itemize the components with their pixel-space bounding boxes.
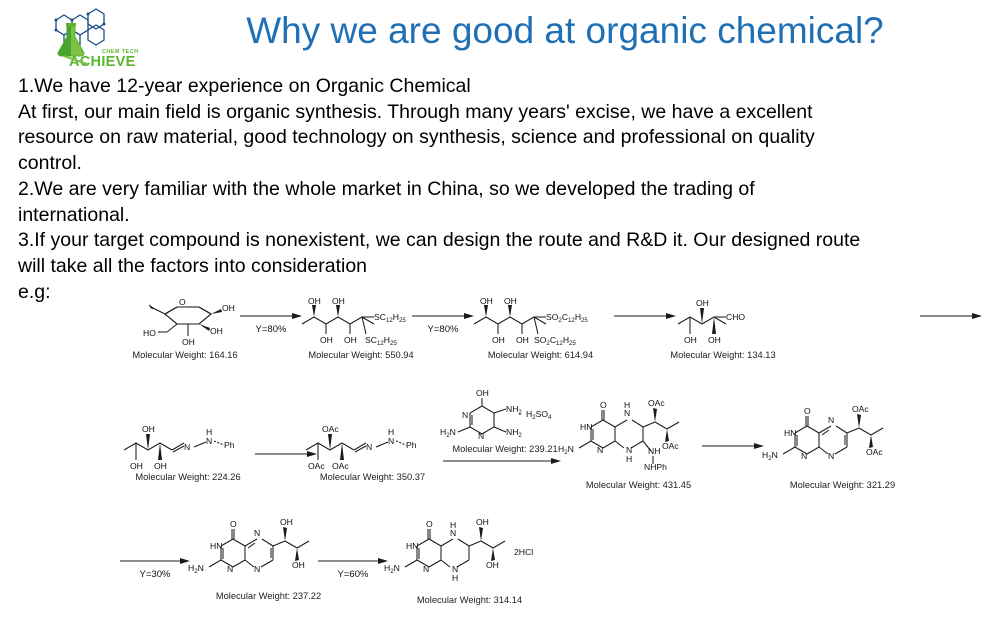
svg-text:NH2: NH2	[506, 427, 522, 439]
svg-text:OH: OH	[332, 296, 345, 306]
svg-text:OH: OH	[696, 298, 709, 308]
svg-text:H: H	[626, 454, 632, 464]
svg-text:OH: OH	[222, 303, 235, 313]
svg-text:OH: OH	[504, 296, 517, 306]
svg-text:Ph: Ph	[224, 440, 235, 450]
svg-text:H: H	[450, 520, 456, 530]
svg-text:H2N: H2N	[384, 563, 400, 575]
svg-text:OH: OH	[344, 335, 357, 345]
arrow-9: Y=60%	[318, 557, 388, 567]
svg-text:N: N	[828, 415, 834, 425]
body-line-7: 3.If your target compound is nonexistent…	[18, 228, 990, 254]
svg-text:OH: OH	[142, 424, 155, 434]
svg-text:OH: OH	[708, 335, 721, 345]
body-line-2: At first, our main field is organic synt…	[18, 100, 990, 126]
svg-text:OAc: OAc	[332, 461, 349, 471]
body-line-6: international.	[18, 203, 990, 229]
salt-label: 2HCl	[514, 547, 533, 557]
structure-disulfone: OH OH OH OH SO2C12H25 SO2C12H25 Molecula…	[468, 292, 613, 360]
body-text-block: 1.We have 12-year experience on Organic …	[18, 74, 990, 305]
svg-text:CHO: CHO	[726, 312, 745, 322]
svg-text:N: N	[801, 451, 807, 461]
svg-text:O: O	[804, 406, 811, 416]
slide-header: CHEM TECH ACHIEVE Why we are good at org…	[0, 0, 1000, 72]
structure-deoxyaldose: OH OH OH CHO Molecular Weight: 134.13	[668, 292, 778, 360]
svg-text:SO2C12H25: SO2C12H25	[546, 312, 588, 324]
svg-text:OH: OH	[292, 560, 305, 570]
scheme-row-1: O OH HO OH OH Molecular Weight: 164.16	[0, 290, 1000, 382]
svg-text:N: N	[462, 410, 468, 420]
svg-text:OH: OH	[320, 335, 333, 345]
arrow-1: Y=80%	[240, 312, 302, 322]
arrow-8-yield: Y=30%	[120, 569, 190, 580]
hexagon-lattice-icon	[55, 9, 106, 50]
svg-text:OH: OH	[516, 335, 529, 345]
svg-text:NH: NH	[648, 446, 660, 456]
svg-text:OH: OH	[684, 335, 697, 345]
body-line-3: resource on raw material, good technolog…	[18, 125, 990, 151]
svg-text:H2N: H2N	[440, 427, 456, 439]
svg-text:OAc: OAc	[308, 461, 325, 471]
svg-text:OH: OH	[280, 517, 293, 527]
svg-text:OH: OH	[154, 461, 167, 471]
body-line-8: will take all the factors into considera…	[18, 254, 990, 280]
svg-text:OH: OH	[476, 517, 489, 527]
mw-label: Molecular Weight: 237.22	[186, 591, 351, 601]
svg-text:HO: HO	[143, 328, 156, 338]
svg-text:OH: OH	[308, 296, 321, 306]
svg-text:OAc: OAc	[662, 441, 679, 451]
arrow-6	[443, 457, 561, 467]
svg-text:OH: OH	[210, 326, 223, 336]
svg-text:OAc: OAc	[852, 404, 869, 414]
arrow-2-yield: Y=80%	[412, 324, 474, 335]
svg-text:H2N: H2N	[762, 450, 778, 462]
svg-text:H: H	[452, 573, 458, 583]
svg-text:OAc: OAc	[648, 398, 665, 408]
body-line-1: 1.We have 12-year experience on Organic …	[18, 74, 990, 100]
structure-triacetate-hydrazone: OAc OAc OAc N N H Ph Molecular Weight: 3…	[300, 412, 445, 482]
svg-text:OH: OH	[476, 388, 489, 398]
svg-text:N: N	[478, 431, 484, 441]
mw-label: Molecular Weight: 164.16	[125, 350, 245, 360]
structure-pyrimidine-sulfate: OH N N NH2 NH2 H2N H2SO4 Molecular Weigh…	[440, 388, 570, 454]
structure-dithioacetal: OH OH OH OH SC12H25 SC12H25 Molecular We…	[296, 292, 426, 360]
scheme-row-3: Y=30% O HN N H2N N	[0, 515, 1000, 613]
svg-text:H2SO4: H2SO4	[526, 409, 552, 421]
svg-text:OAc: OAc	[322, 424, 339, 434]
svg-text:N: N	[254, 564, 260, 574]
svg-text:N: N	[206, 436, 212, 446]
svg-text:O: O	[600, 400, 607, 410]
svg-text:O: O	[230, 519, 237, 529]
svg-text:N: N	[254, 528, 260, 538]
body-line-4: control.	[18, 151, 990, 177]
mw-label: Molecular Weight: 314.14	[382, 595, 557, 605]
svg-text:N: N	[597, 445, 603, 455]
svg-text:Ph: Ph	[406, 440, 417, 450]
svg-text:H2N: H2N	[188, 563, 204, 575]
svg-text:OAc: OAc	[866, 447, 883, 457]
mw-label: Molecular Weight: 431.45	[556, 480, 721, 490]
svg-text:N: N	[828, 451, 834, 461]
mw-label: Molecular Weight: 350.37	[300, 472, 445, 482]
structure-pteridine-diacetate: O HN N H2N N N	[760, 402, 925, 490]
svg-text:N: N	[184, 442, 190, 452]
svg-text:OH: OH	[480, 296, 493, 306]
reagent-mw-label: Molecular Weight: 239.21	[440, 444, 570, 454]
structure-sapropterin-dihydrochloride: O HN N H2N N H N	[382, 515, 557, 605]
mw-label: Molecular Weight: 134.13	[668, 350, 778, 360]
svg-text:N: N	[366, 442, 372, 452]
body-line-5: 2.We are very familiar with the whole ma…	[18, 177, 990, 203]
page-title: Why we are good at organic chemical?	[160, 10, 970, 52]
structure-tetrahydropteridine-diacetate: O HN N H2N N H N	[556, 396, 721, 490]
svg-text:N: N	[388, 436, 394, 446]
arrow-4	[920, 312, 982, 322]
svg-text:N: N	[227, 564, 233, 574]
arrow-2: Y=80%	[412, 312, 474, 322]
arrow-1-yield: Y=80%	[240, 324, 302, 335]
svg-text:O: O	[426, 519, 433, 529]
svg-text:SO2C12H25: SO2C12H25	[534, 335, 576, 347]
svg-text:N: N	[423, 564, 429, 574]
svg-text:H2N: H2N	[558, 444, 574, 456]
arrow-7	[702, 442, 764, 452]
svg-text:NHPh: NHPh	[644, 462, 667, 472]
structure-phenylhydrazone: OH OH OH N N H Ph Molecular Weight: 224.…	[118, 412, 258, 482]
reaction-scheme: O OH HO OH OH Molecular Weight: 164.16	[0, 290, 1000, 620]
svg-text:H: H	[624, 400, 630, 410]
arrow-3	[614, 312, 676, 322]
svg-text:SC12H25: SC12H25	[374, 312, 406, 324]
svg-text:SC12H25: SC12H25	[365, 335, 397, 347]
svg-text:OH: OH	[130, 461, 143, 471]
mw-label: Molecular Weight: 224.26	[118, 472, 258, 482]
svg-text:O: O	[179, 297, 186, 307]
mw-label: Molecular Weight: 550.94	[296, 350, 426, 360]
scheme-row-2: OH OH OH N N H Ph Molecular Weight: 224.…	[0, 390, 1000, 502]
mw-label: Molecular Weight: 614.94	[468, 350, 613, 360]
achieve-chem-tech-logo: CHEM TECH ACHIEVE	[42, 6, 148, 68]
svg-text:OH: OH	[182, 337, 195, 347]
svg-text:H: H	[206, 427, 212, 437]
arrow-8: Y=30%	[120, 557, 190, 567]
structure-rhamnose: O OH HO OH OH Molecular Weight: 164.16	[125, 292, 245, 360]
svg-text:H: H	[388, 427, 394, 437]
mw-label: Molecular Weight: 321.29	[760, 480, 925, 490]
svg-text:OH: OH	[486, 560, 499, 570]
arrow-9-yield: Y=60%	[318, 569, 388, 580]
svg-text:OH: OH	[492, 335, 505, 345]
